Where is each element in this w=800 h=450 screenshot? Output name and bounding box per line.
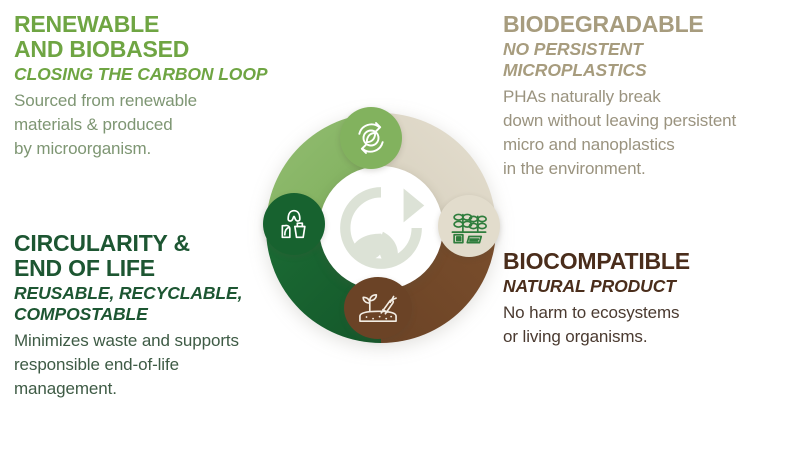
renewable-body: Sourced from renewable materials & produ… [14, 89, 294, 161]
infographic-canvas: RENEWABLE AND BIOBASED CLOSING THE CARBO… [0, 0, 800, 450]
icon-bubble-renewable [340, 107, 402, 169]
biocompatible-body: No harm to ecosystems or living organism… [503, 301, 800, 349]
biodegradable-body: PHAs naturally break down without leavin… [503, 85, 800, 181]
circular-arrow-leaves-logo [334, 181, 428, 275]
plants-soil-icon [448, 205, 490, 247]
biocompatible-subheading: NATURAL PRODUCT [503, 276, 800, 297]
recycle-leaf-icon [351, 118, 391, 158]
reusable-packaging-icon [274, 204, 314, 244]
icon-bubble-biocompatible [344, 277, 412, 339]
biocompatible-heading: BIOCOMPATIBLE [503, 249, 800, 274]
icon-bubble-circularity [263, 193, 325, 255]
seedling-carrot-soil-icon [355, 288, 401, 328]
section-biocompatible: BIOCOMPATIBLE NATURAL PRODUCT No harm to… [503, 249, 800, 349]
center-disc [319, 166, 443, 290]
icon-bubble-biodegradable [438, 195, 500, 257]
biodegradable-heading: BIODEGRADABLE [503, 12, 800, 37]
section-renewable: RENEWABLE AND BIOBASED CLOSING THE CARBO… [14, 12, 294, 161]
renewable-heading: RENEWABLE AND BIOBASED [14, 12, 294, 62]
biodegradable-subheading: NO PERSISTENT MICROPLASTICS [503, 39, 800, 81]
renewable-subheading: CLOSING THE CARBON LOOP [14, 64, 294, 85]
section-biodegradable: BIODEGRADABLE NO PERSISTENT MICROPLASTIC… [503, 12, 800, 181]
cycle-diagram [262, 109, 500, 347]
